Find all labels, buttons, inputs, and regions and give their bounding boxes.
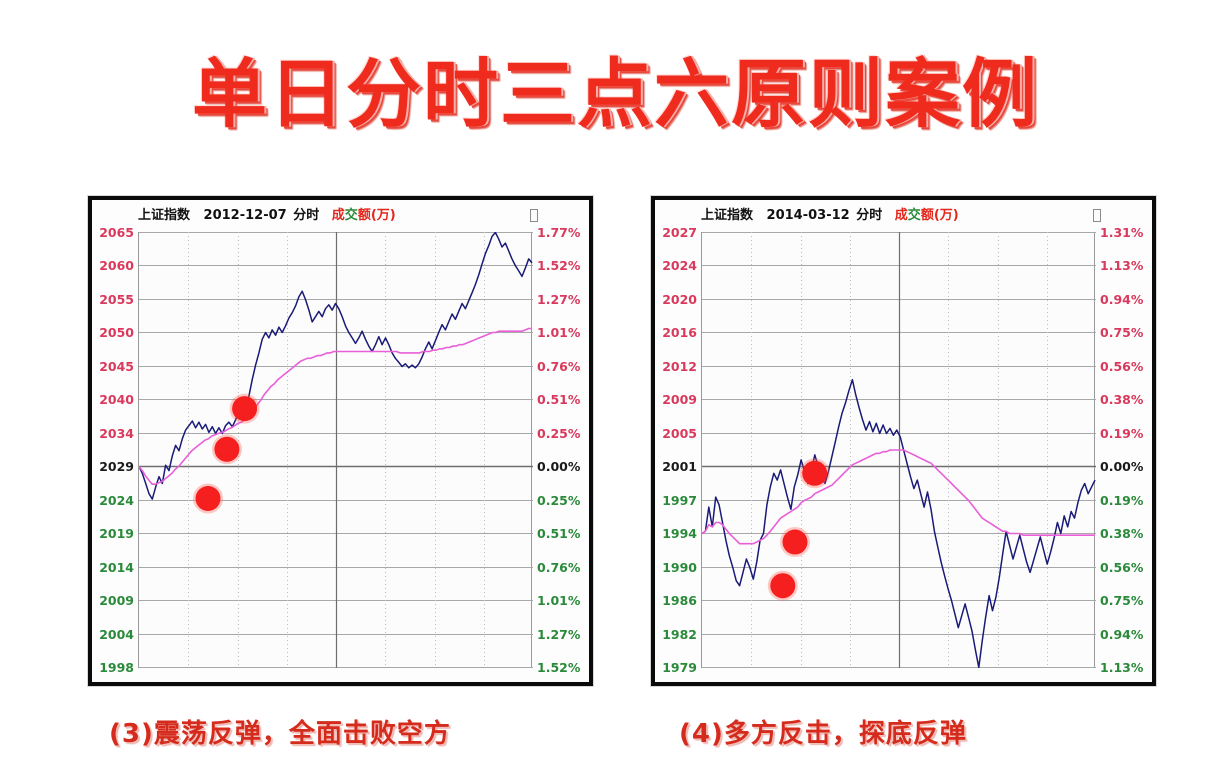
y-left-tick: 2027: [662, 226, 697, 239]
y-left-tick: 2004: [99, 628, 134, 641]
page-title: 单日分时三点六原则案例: [0, 57, 1231, 132]
y-right-tick: 0.94%: [1100, 628, 1143, 641]
y-right-tick: 1.77%: [537, 226, 580, 239]
chart-caption-2: (4)多方反击，探底反弹: [679, 713, 967, 750]
y-left-tick: 2012: [662, 360, 697, 373]
y-left-tick: 1994: [662, 527, 697, 540]
y-left-tick: 2016: [662, 326, 697, 339]
price-line: [702, 380, 1095, 668]
average-price-line: [702, 450, 1095, 544]
plot-area-1[interactable]: [138, 232, 532, 668]
y-right-tick: 1.31%: [1100, 226, 1143, 239]
volume-label-char-2: 交: [345, 208, 358, 223]
highlight-marker: [768, 571, 798, 601]
y-left-tick: 2024: [99, 494, 134, 507]
y-left-tick: 1998: [99, 661, 134, 674]
chart-period-label: 分时: [293, 208, 319, 223]
price-line: [139, 233, 532, 500]
y-left-tick: 2019: [99, 527, 134, 540]
y-left-tick: 2005: [662, 427, 697, 440]
y-right-tick: 0.51%: [537, 393, 580, 406]
restore-window-icon[interactable]: [1093, 209, 1101, 222]
highlight-marker: [800, 458, 830, 488]
chart-header-1: 上证指数 2012-12-07 分时 成交额(万): [92, 204, 589, 226]
y-axis-left-1: 2065206020552050204520402034202920242019…: [92, 232, 134, 668]
y-left-tick: 2065: [99, 226, 134, 239]
y-left-tick: 2050: [99, 326, 134, 339]
chart-panel-1[interactable]: 上证指数 2012-12-07 分时 成交额(万) 20652060205520…: [88, 196, 593, 686]
y-right-tick: 0.00%: [1100, 460, 1143, 473]
y-axis-left-2: 2027202420202016201220092005200119971994…: [655, 232, 697, 668]
y-left-tick: 1990: [662, 561, 697, 574]
highlight-marker: [193, 484, 223, 514]
chart-header-2: 上证指数 2014-03-12 分时 成交额(万): [655, 204, 1152, 226]
y-right-tick: 1.52%: [537, 259, 580, 272]
y-right-tick: 0.94%: [1100, 293, 1143, 306]
y-right-tick: 0.25%: [537, 494, 580, 507]
y-left-tick: 2024: [662, 259, 697, 272]
chart-period-label: 分时: [856, 208, 882, 223]
volume-label-char-2: 交: [908, 208, 921, 223]
y-left-tick: 2009: [99, 594, 134, 607]
chart-panel-2[interactable]: 上证指数 2014-03-12 分时 成交额(万) 20272024202020…: [651, 196, 1156, 686]
y-left-tick: 1982: [662, 628, 697, 641]
y-axis-right-2: 1.31%1.13%0.94%0.75%0.56%0.38%0.19%0.00%…: [1100, 232, 1152, 668]
volume-label-rest: 额(万): [358, 208, 396, 223]
price-chart-svg-1: [139, 232, 533, 668]
volume-label-rest: 额(万): [921, 208, 959, 223]
y-right-tick: 1.01%: [537, 594, 580, 607]
y-right-tick: 0.38%: [1100, 393, 1143, 406]
y-right-tick: 0.56%: [1100, 360, 1143, 373]
chart-date-label: 2014-03-12: [767, 208, 850, 223]
y-left-tick: 2040: [99, 393, 134, 406]
y-left-tick: 1979: [662, 661, 697, 674]
y-right-tick: 0.19%: [1100, 427, 1143, 440]
average-price-line: [139, 329, 532, 485]
y-right-tick: 0.75%: [1100, 326, 1143, 339]
y-left-tick: 2009: [662, 393, 697, 406]
chart-inner-2: 上证指数 2014-03-12 分时 成交额(万) 20272024202020…: [655, 200, 1152, 682]
plot-area-2[interactable]: [701, 232, 1095, 668]
y-right-tick: 0.51%: [537, 527, 580, 540]
y-left-tick: 2029: [99, 460, 134, 473]
y-left-tick: 2055: [99, 293, 134, 306]
chart-date-label: 2012-12-07: [204, 208, 287, 223]
chart-inner-1: 上证指数 2012-12-07 分时 成交额(万) 20652060205520…: [92, 200, 589, 682]
y-left-tick: 2001: [662, 460, 697, 473]
y-right-tick: 1.27%: [537, 293, 580, 306]
y-right-tick: 0.19%: [1100, 494, 1143, 507]
y-left-tick: 2014: [99, 561, 134, 574]
y-axis-right-1: 1.77%1.52%1.27%1.01%0.76%0.51%0.25%0.00%…: [537, 232, 589, 668]
y-right-tick: 0.75%: [1100, 594, 1143, 607]
highlight-marker: [230, 394, 260, 424]
y-right-tick: 1.13%: [1100, 259, 1143, 272]
highlight-marker: [780, 527, 810, 557]
y-left-tick: 2060: [99, 259, 134, 272]
y-right-tick: 1.13%: [1100, 661, 1143, 674]
index-name-label: 上证指数: [701, 208, 753, 223]
y-right-tick: 0.00%: [537, 460, 580, 473]
highlight-marker: [212, 434, 242, 464]
volume-label-char-1: 成: [332, 208, 345, 223]
volume-label: 成交额(万): [895, 208, 959, 223]
chart-caption-1: (3)震荡反弹，全面击败空方: [109, 713, 451, 750]
restore-window-icon[interactable]: [530, 209, 538, 222]
y-left-tick: 2020: [662, 293, 697, 306]
y-right-tick: 1.01%: [537, 326, 580, 339]
y-left-tick: 2034: [99, 427, 134, 440]
y-left-tick: 1986: [662, 594, 697, 607]
y-right-tick: 0.76%: [537, 561, 580, 574]
y-right-tick: 0.56%: [1100, 561, 1143, 574]
y-right-tick: 0.76%: [537, 360, 580, 373]
y-right-tick: 0.25%: [537, 427, 580, 440]
volume-label-char-1: 成: [895, 208, 908, 223]
y-right-tick: 1.52%: [537, 661, 580, 674]
y-left-tick: 2045: [99, 360, 134, 373]
volume-label: 成交额(万): [332, 208, 396, 223]
y-left-tick: 1997: [662, 494, 697, 507]
price-chart-svg-2: [702, 232, 1096, 668]
y-right-tick: 0.38%: [1100, 527, 1143, 540]
y-right-tick: 1.27%: [537, 628, 580, 641]
index-name-label: 上证指数: [138, 208, 190, 223]
